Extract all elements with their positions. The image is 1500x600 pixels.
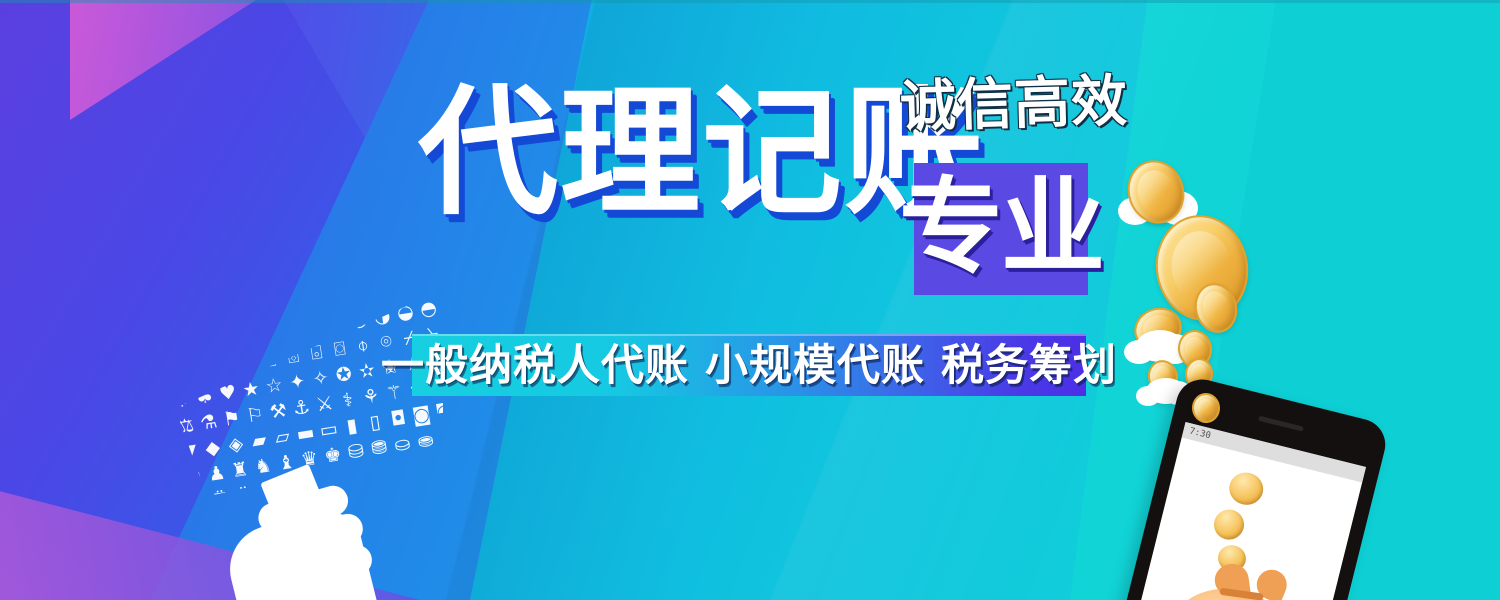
business-icon: ♜ xyxy=(228,457,253,484)
business-icon: ▧ xyxy=(250,296,275,323)
badge-label: 专业 xyxy=(899,175,1103,279)
business-icon: ◆ xyxy=(200,435,225,462)
hand-illustration xyxy=(215,485,395,600)
business-icon: ▦ xyxy=(227,299,252,326)
business-icon: ⌽ xyxy=(351,332,376,359)
business-icon: ◈ xyxy=(224,431,249,458)
business-icon: ▯ xyxy=(363,409,388,436)
business-icon: ⍫ xyxy=(441,449,466,476)
business-icon: ⚗ xyxy=(196,409,221,436)
business-icon: ◎ xyxy=(277,318,302,345)
business-icon: ⌻ xyxy=(304,340,329,367)
business-icon: ◑ xyxy=(406,534,431,561)
business-icon: ♟ xyxy=(205,461,230,488)
business-icon: ☆ xyxy=(262,373,287,400)
business-icon: ⚔ xyxy=(312,391,337,418)
business-icon: ⎙ xyxy=(189,515,214,542)
business-icon: ◩ xyxy=(273,292,298,319)
business-icon: ◉ xyxy=(254,321,279,348)
business-icon: ⛀ xyxy=(390,431,415,458)
business-icon: ⌺ xyxy=(281,343,306,370)
business-icon: ⛃ xyxy=(367,435,392,462)
business-icon: ⌼ xyxy=(327,336,352,363)
business-icon: ⛁ xyxy=(344,438,369,465)
business-icon: ◓ xyxy=(416,296,441,323)
top-edge-line xyxy=(0,0,1500,3)
business-icon: ⍨ xyxy=(371,460,396,487)
business-icon: ⚖ xyxy=(173,413,198,440)
business-icon: ✫ xyxy=(355,358,380,385)
business-icon: ★ xyxy=(239,376,264,403)
business-icon: ⎔ xyxy=(211,354,236,381)
business-icon: ⊙ xyxy=(300,314,325,341)
business-icon: ⌹ xyxy=(258,347,283,374)
business-icon: ▮ xyxy=(340,413,365,440)
services-list-label: 一般纳税人代账 小规模代账 税务筹划 xyxy=(381,345,1117,388)
business-icon: ⚘ xyxy=(359,384,384,411)
business-icon: ◍ xyxy=(231,325,256,352)
business-icon: ⍪ xyxy=(417,453,442,480)
business-icon: ⚑ xyxy=(220,406,245,433)
business-icon: ⎑ xyxy=(421,479,446,506)
business-icon: ♣ xyxy=(192,384,217,411)
business-icon: ⊞ xyxy=(449,501,474,528)
business-icon: ▭ xyxy=(316,417,341,444)
business-icon: ⛂ xyxy=(413,427,438,454)
business-icon: ▰ xyxy=(247,428,272,455)
business-icon: ◘ xyxy=(386,405,411,432)
business-icon: ◑ xyxy=(370,303,395,330)
business-icon: ◓ xyxy=(453,526,478,553)
business-icon: ⊚ xyxy=(323,310,348,337)
cloud-icon xyxy=(1136,330,1184,362)
gold-coin-icon xyxy=(1211,506,1247,542)
business-icon: ▱ xyxy=(270,424,295,451)
business-icon: ✦ xyxy=(285,369,310,396)
gold-coin-icon xyxy=(1226,469,1267,508)
business-icon: ♞ xyxy=(251,453,276,480)
business-icon: ⌬ xyxy=(188,358,213,385)
business-icon: ♥ xyxy=(216,380,241,407)
business-icon: ◧ xyxy=(180,307,205,334)
business-icon: € xyxy=(184,332,209,359)
business-icon: ◨ xyxy=(203,303,228,330)
business-icon: ▩ xyxy=(402,508,427,535)
phone-status-time: 7:30 xyxy=(1182,422,1366,483)
business-icon: ⍠ xyxy=(185,490,210,517)
business-icon: ◚ xyxy=(432,398,457,425)
business-icon: ◒ xyxy=(393,299,418,326)
business-icon: ⎒ xyxy=(445,475,470,502)
business-icon: ⌸ xyxy=(235,351,260,378)
business-icon: ⚓ xyxy=(289,395,314,422)
tagline-text: 诚信高效 xyxy=(899,74,1128,136)
business-icon: ₵ xyxy=(207,329,232,356)
business-icon: ☗ xyxy=(181,464,206,491)
phone-speaker xyxy=(1258,416,1304,432)
business-icon: ▨ xyxy=(296,288,321,315)
business-icon: ◐ xyxy=(347,307,372,334)
promo-banner: ▤▥◧◨▦▧◩▨☰▣▩◪⊞$¢€₵◍◉◎⊙⊚◐◑◒◓⌂⌘⌬⎔⌸⌹⌺⌻⌼⌽⌾⌿⍀♦… xyxy=(0,0,1500,600)
business-icon: ⚐ xyxy=(243,402,268,429)
business-icon: ✪ xyxy=(332,362,357,389)
business-icon: ♚ xyxy=(321,442,346,469)
business-icon: ◪ xyxy=(426,504,451,531)
services-bar: 一般纳税人代账 小规模代账 税务筹划 xyxy=(412,334,1086,396)
business-icon: ✧ xyxy=(308,365,333,392)
business-icon: ⚒ xyxy=(266,398,291,425)
badge-professional: 专业 xyxy=(914,163,1088,295)
business-icon: ◙ xyxy=(409,402,434,429)
business-icon: ▼ xyxy=(177,439,202,466)
business-icon: ◒ xyxy=(430,530,455,557)
business-icon: ⎐ xyxy=(398,482,423,509)
business-icon: ⚕ xyxy=(336,387,361,414)
business-icon: ⌁ xyxy=(437,424,462,451)
business-icon: ⍩ xyxy=(394,457,419,484)
business-icon: ▬ xyxy=(293,420,318,447)
